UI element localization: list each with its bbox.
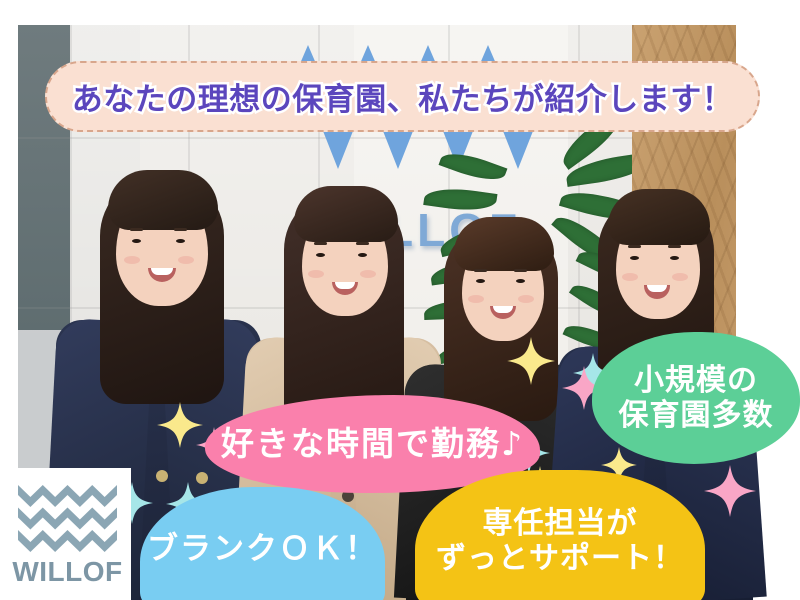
bubble-yellow-line2: ずっとサポート！ xyxy=(436,541,684,576)
bubble-yellow-line1: 専任担当が xyxy=(436,506,684,541)
sparkle-yellow-icon xyxy=(507,332,555,390)
sparkle-pink-icon xyxy=(704,460,756,522)
headline-banner: あなたの理想の保育園、私たちが紹介します！ xyxy=(45,61,760,132)
bubble-dedicated-support: 専任担当が ずっとサポート！ xyxy=(415,470,705,600)
bubble-green-line2: 保育園多数 xyxy=(619,398,774,433)
bubble-green-line1: 小規模の xyxy=(619,363,774,398)
willof-logo-wordmark: WILLOF xyxy=(4,556,131,588)
willof-logo-card: WILLOF xyxy=(4,468,131,600)
poster-canvas: WILLOF xyxy=(0,0,800,600)
bubble-blue-text: ブランクＯＫ！ xyxy=(147,531,378,568)
headline-text: あなたの理想の保育園、私たちが紹介します！ xyxy=(72,74,734,119)
bubble-pink-text: 好きな時間で勤務♪ xyxy=(221,425,524,464)
bubble-small-nurseries: 小規模の 保育園多数 xyxy=(592,332,800,464)
willof-zigzag-icon xyxy=(18,482,117,552)
